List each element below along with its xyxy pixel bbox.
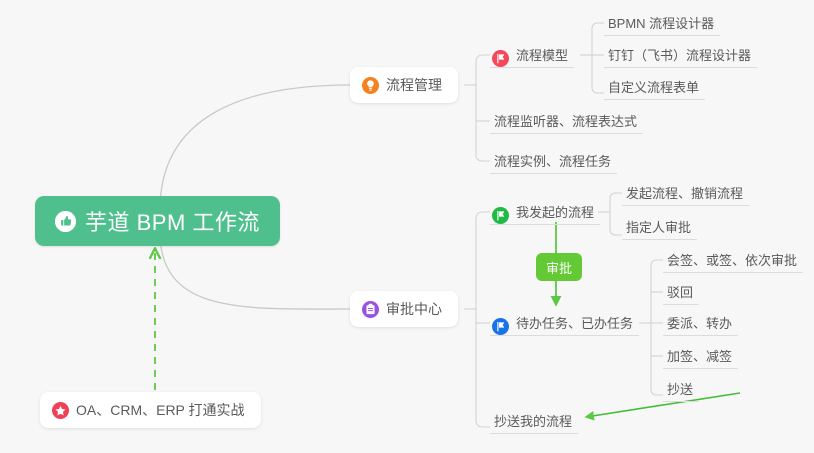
node-reject[interactable]: 驳回 [663,279,699,305]
node-process-listener-expression-label: 流程监听器、流程表达式 [494,111,637,133]
mindmap-canvas: 芋道 BPM 工作流 流程管理 流程模型 BPMN 流程设计器 钉钉（飞书）流程… [0,0,814,453]
node-delegate-transfer[interactable]: 委派、转办 [663,310,738,336]
node-todo-done-tasks[interactable]: 待办任务、已办任务 [490,310,639,336]
node-process-listener-expression[interactable]: 流程监听器、流程表达式 [490,108,643,134]
clipboard-icon [362,301,379,318]
root-node[interactable]: 芋道 BPM 工作流 [35,196,280,246]
node-assignee-approval-label: 指定人审批 [626,217,691,239]
branch-process-management[interactable]: 流程管理 [350,67,458,103]
node-process-model[interactable]: 流程模型 [490,42,574,68]
relation-chip-approve-label: 审批 [546,258,572,277]
node-dingtalk-feishu-designer-label: 钉钉（飞书）流程设计器 [608,45,751,67]
flag-icon [492,50,509,67]
node-countersign-orsign-sequential[interactable]: 会签、或签、依次审批 [663,247,803,273]
node-reject-label: 驳回 [667,282,693,304]
node-cc-to-me-processes-label: 抄送我的流程 [494,411,572,433]
note-integration-label: OA、CRM、ERP 打通实战 [76,400,245,420]
node-countersign-orsign-sequential-label: 会签、或签、依次审批 [667,250,797,272]
node-my-initiated-processes-label: 我发起的流程 [516,202,594,224]
node-dingtalk-feishu-designer[interactable]: 钉钉（飞书）流程设计器 [604,42,757,68]
node-process-instance-task[interactable]: 流程实例、流程任务 [490,148,617,174]
node-carbon-copy-label: 抄送 [667,379,693,401]
star-icon [52,402,69,419]
node-todo-done-tasks-label: 待办任务、已办任务 [516,313,633,335]
note-integration[interactable]: OA、CRM、ERP 打通实战 [40,392,261,428]
node-bpmn-designer[interactable]: BPMN 流程设计器 [604,10,720,36]
node-assignee-approval[interactable]: 指定人审批 [622,214,697,240]
node-process-instance-task-label: 流程实例、流程任务 [494,151,611,173]
flag-icon [492,207,509,224]
node-carbon-copy[interactable]: 抄送 [663,376,699,402]
node-add-remove-sign-label: 加签、减签 [667,346,732,368]
branch-approval-center-label: 审批中心 [386,299,442,319]
thumbs-up-icon [55,211,76,232]
flag-icon [492,318,509,335]
node-start-cancel-process[interactable]: 发起流程、撤销流程 [622,180,749,206]
lightbulb-icon [362,77,379,94]
branch-approval-center[interactable]: 审批中心 [350,291,458,327]
branch-process-management-label: 流程管理 [386,75,442,95]
node-bpmn-designer-label: BPMN 流程设计器 [608,13,714,35]
node-custom-process-form-label: 自定义流程表单 [608,77,699,99]
root-label: 芋道 BPM 工作流 [85,205,260,237]
node-process-model-label: 流程模型 [516,45,568,67]
node-cc-to-me-processes[interactable]: 抄送我的流程 [490,408,578,434]
node-custom-process-form[interactable]: 自定义流程表单 [604,74,705,100]
node-start-cancel-process-label: 发起流程、撤销流程 [626,183,743,205]
node-delegate-transfer-label: 委派、转办 [667,313,732,335]
node-my-initiated-processes[interactable]: 我发起的流程 [490,199,600,225]
relation-chip-approve[interactable]: 审批 [536,253,582,281]
node-add-remove-sign[interactable]: 加签、减签 [663,343,738,369]
